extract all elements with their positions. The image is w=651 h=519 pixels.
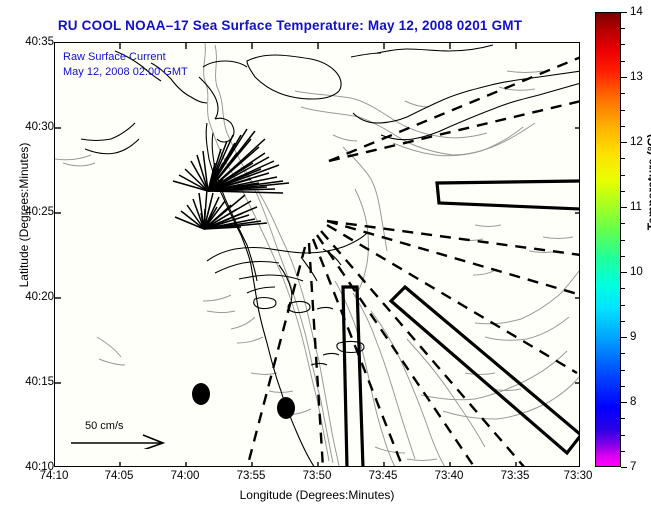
colorbar-tick-9: [621, 337, 627, 338]
colorbar-tick-12: [621, 142, 627, 143]
xtick-label-3: 73:55: [237, 470, 266, 482]
colorbar-minor-tick: [621, 93, 625, 94]
colorbar-minor-tick: [621, 451, 625, 452]
colorbar-minor-tick: [621, 370, 625, 371]
colorbar-minor-tick: [621, 288, 625, 289]
ytick-label-0: 40:35: [25, 36, 54, 48]
velocity-scale-legend: 50 cm/s: [69, 420, 189, 454]
colorbar-label-14: 14: [630, 6, 643, 18]
annotation-line-2: May 12, 2008 02:00 GMT: [63, 65, 188, 80]
colorbar-minor-tick: [621, 61, 625, 62]
colorbar-label-13: 13: [630, 71, 643, 83]
sst-map-figure: RU COOL NOAA–17 Sea Surface Temperature:…: [0, 0, 651, 519]
colorbar-minor-tick: [621, 110, 625, 111]
xtick-label-5: 73:45: [369, 470, 398, 482]
colorbar-minor-tick: [621, 305, 625, 306]
colorbar-minor-tick: [621, 256, 625, 257]
colorbar-label-8: 8: [630, 396, 636, 408]
xtick-label-0: 74:10: [40, 470, 69, 482]
map-graphics: [55, 43, 580, 467]
colorbar-minor-tick: [621, 28, 625, 29]
colorbar-label-12: 12: [630, 136, 643, 148]
xtick-label-7: 73:35: [501, 470, 530, 482]
colorbar-title: Temperature (°C): [645, 97, 651, 267]
colorbar-tick-7: [621, 467, 627, 468]
colorbar-minor-tick: [621, 158, 625, 159]
colorbar-label-7: 7: [630, 461, 636, 473]
map-annotation: Raw Surface Current May 12, 2008 02:00 G…: [63, 50, 188, 80]
ytick-label-4: 40:15: [25, 376, 54, 388]
xtick-label-1: 74:05: [105, 470, 134, 482]
colorbar-minor-tick: [621, 191, 625, 192]
xtick-label-2: 74:00: [171, 470, 200, 482]
y-axis-label: Latitude (Degrees:Minutes): [17, 95, 31, 335]
station-dot-1: [192, 383, 210, 405]
xtick-label-6: 73:40: [435, 470, 464, 482]
colorbar-minor-tick: [621, 175, 625, 176]
colorbar-label-11: 11: [630, 201, 642, 213]
radar-beam-footprints: [343, 181, 580, 467]
colorbar-label-10: 10: [630, 266, 643, 278]
colorbar-tick-11: [621, 207, 627, 208]
colorbar-minor-tick: [621, 126, 625, 127]
x-axis-label: Longitude (Degrees:Minutes): [54, 488, 580, 502]
map-plot-area: Raw Surface Current May 12, 2008 02:00 G…: [54, 42, 580, 467]
station-dot-2: [277, 397, 295, 419]
colorbar-tick-14: [621, 12, 627, 13]
colorbar-tick-13: [621, 77, 627, 78]
figure-title: RU COOL NOAA–17 Sea Surface Temperature:…: [0, 18, 580, 33]
colorbar-minor-tick: [621, 240, 625, 241]
scale-legend-label: 50 cm/s: [85, 420, 189, 432]
colorbar-minor-tick: [621, 386, 625, 387]
colorbar-tick-10: [621, 272, 627, 273]
colorbar-minor-tick: [621, 418, 625, 419]
annotation-line-1: Raw Surface Current: [63, 50, 188, 65]
xtick-label-8: 73:30: [564, 470, 593, 482]
colorbar-label-9: 9: [630, 331, 636, 343]
colorbar-minor-tick: [621, 353, 625, 354]
radar-dashed-radials: [247, 57, 580, 467]
xtick-label-4: 73:50: [303, 470, 332, 482]
temperature-colorbar: [595, 12, 621, 467]
colorbar-tick-8: [621, 402, 627, 403]
colorbar-minor-tick: [621, 321, 625, 322]
colorbar-minor-tick: [621, 44, 625, 45]
colorbar-minor-tick: [621, 435, 625, 436]
arrow-right-icon: [69, 433, 179, 449]
colorbar-minor-tick: [621, 223, 625, 224]
